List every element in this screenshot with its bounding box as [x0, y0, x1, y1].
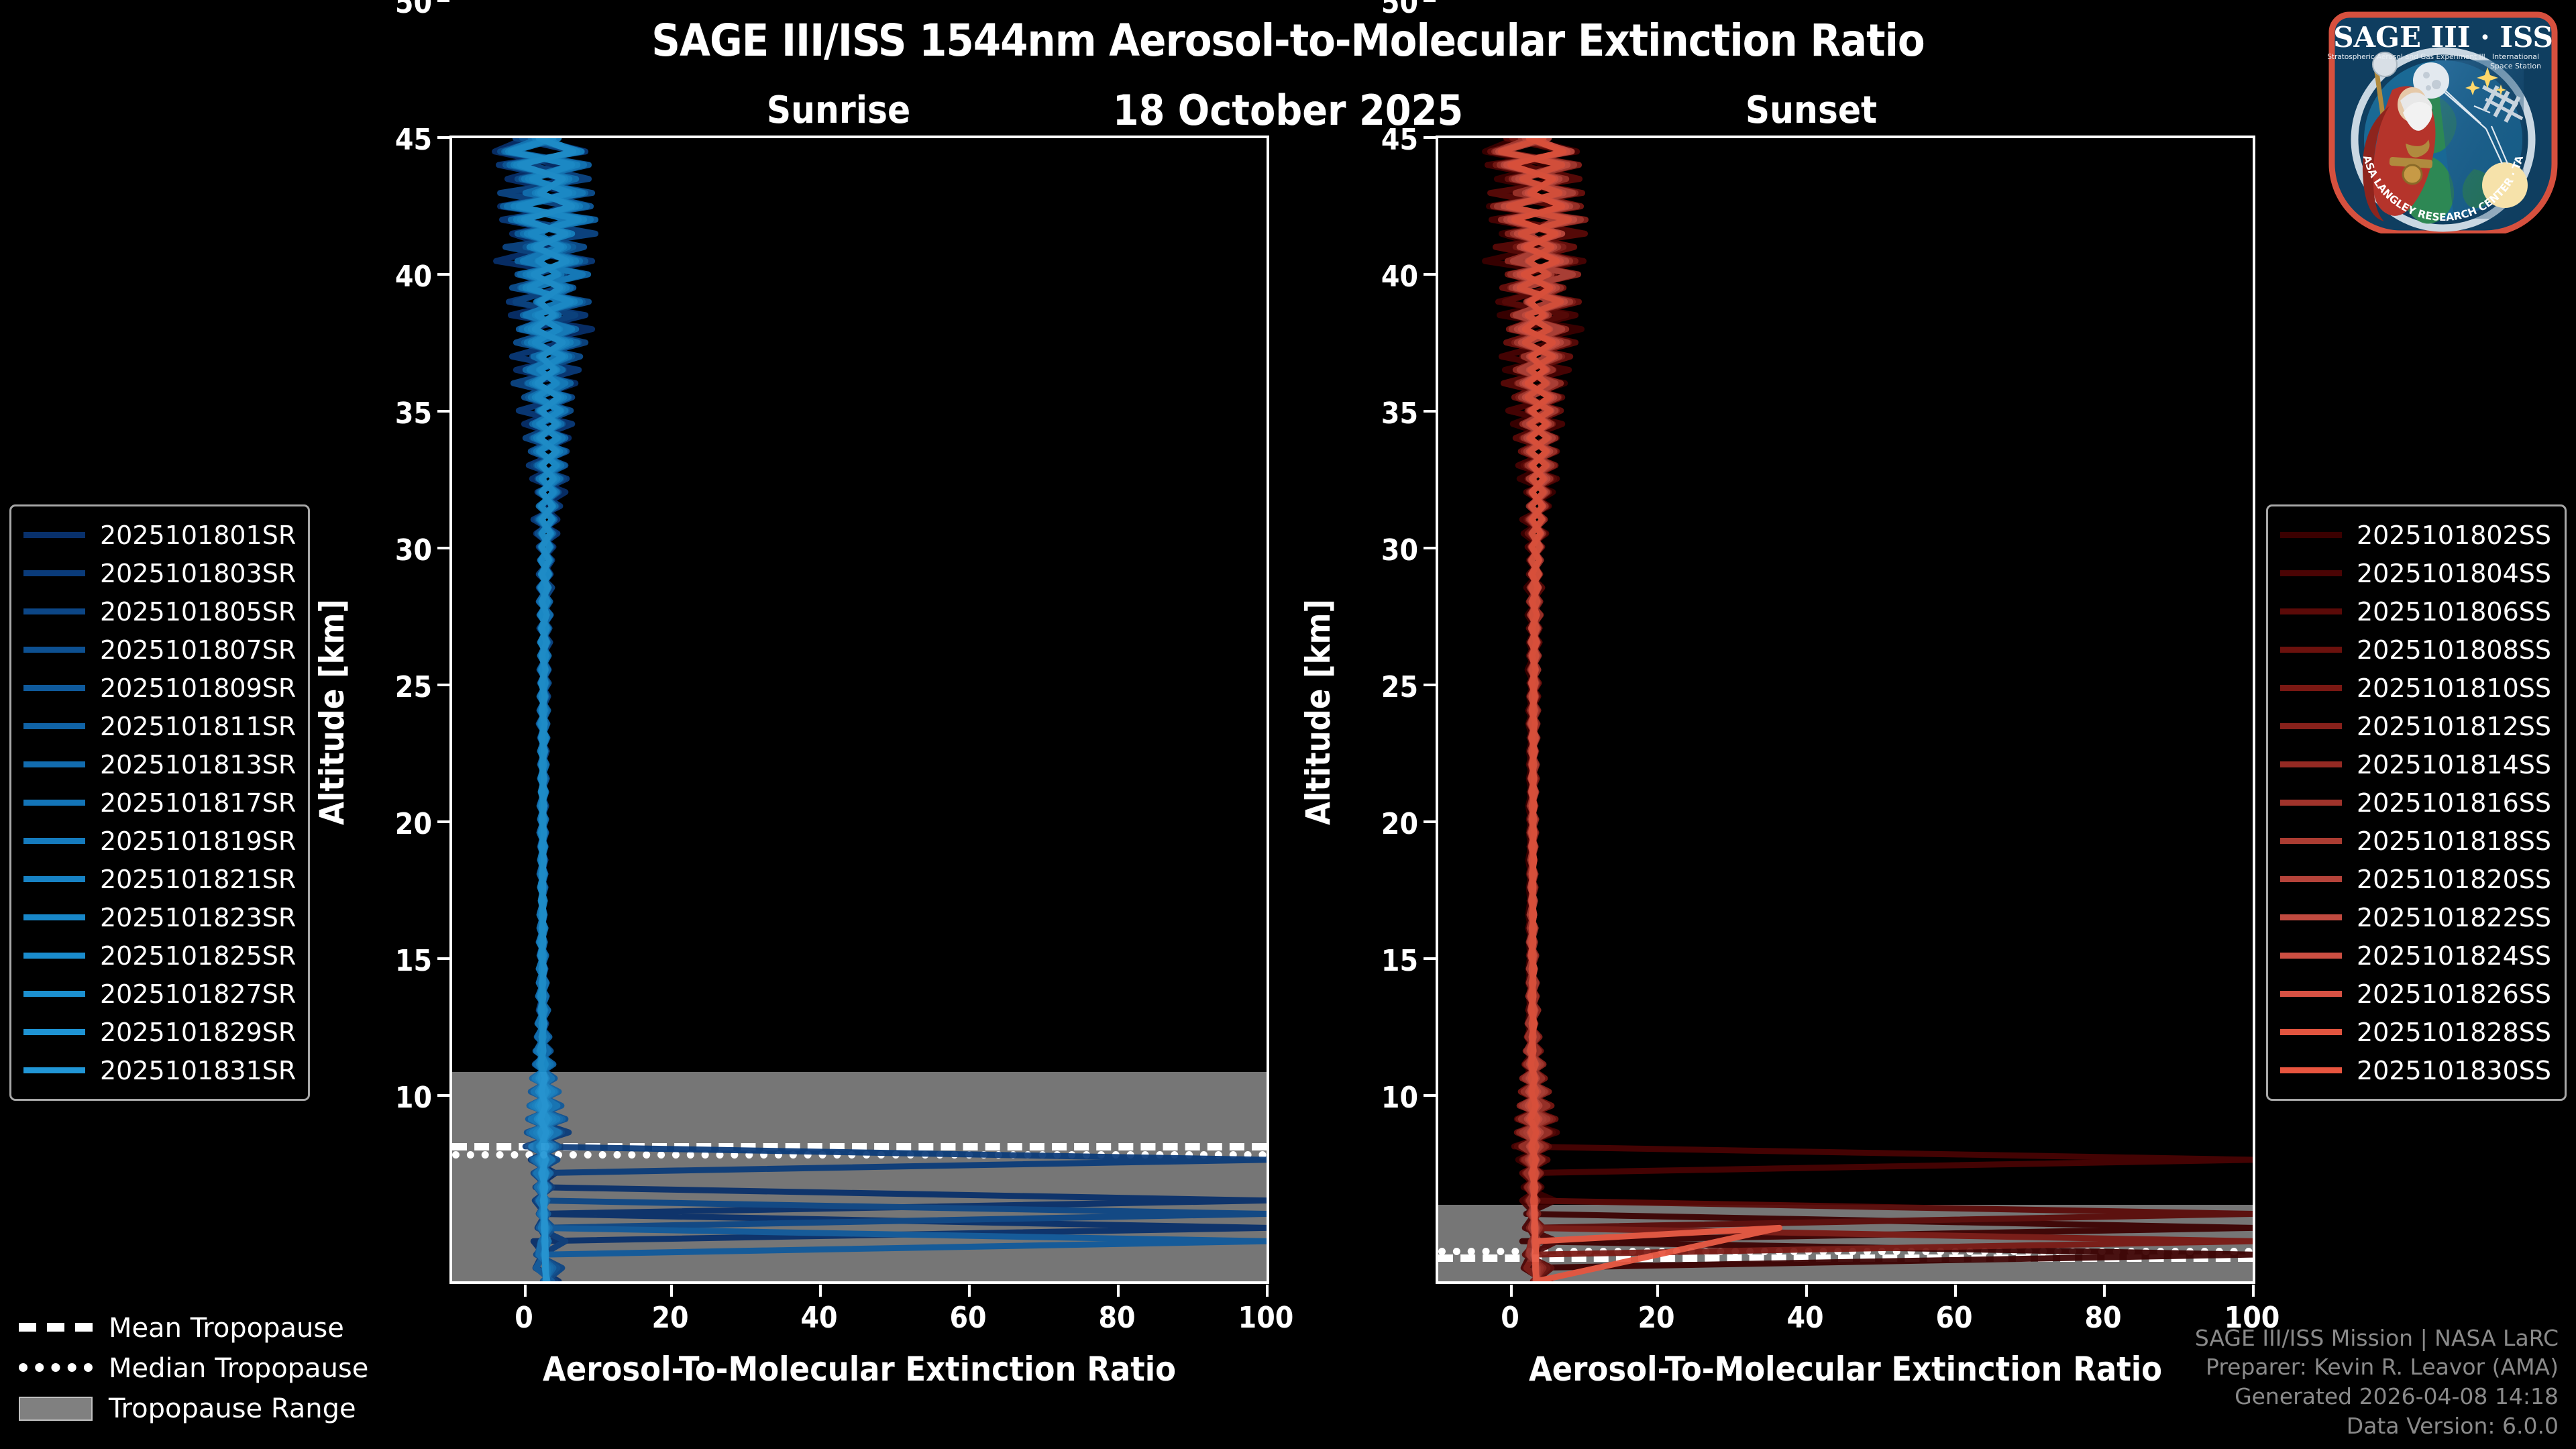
- legend-item-label: 2025101817SR: [100, 788, 296, 818]
- legend-color-swatch: [23, 1029, 85, 1035]
- sunset-xtickmark-100: [2252, 1285, 2255, 1297]
- sunrise-ytickmark-30: [437, 547, 449, 549]
- legend-item[interactable]: 2025101831SR: [23, 1051, 296, 1089]
- sunset-ytick-30: 30: [1344, 533, 1418, 568]
- sunrise-xtick-80: 80: [1070, 1301, 1164, 1335]
- legend-item[interactable]: 2025101816SS: [2280, 784, 2553, 822]
- sunset-ytickmark-25: [1424, 684, 1436, 686]
- legend-item-label: 2025101823SR: [100, 903, 296, 932]
- legend-item-label: 2025101819SR: [100, 826, 296, 856]
- tropopause-key-median: Median Tropopause: [19, 1348, 368, 1389]
- legend-item-label: 2025101809SR: [100, 674, 296, 703]
- legend-color-swatch: [2280, 838, 2342, 844]
- sunset-xtick-20: 20: [1609, 1301, 1703, 1335]
- legend-item[interactable]: 2025101801SR: [23, 516, 296, 554]
- legend-color-swatch: [2280, 953, 2342, 959]
- legend-color-swatch: [23, 570, 85, 576]
- legend-item-label: 2025101808SS: [2357, 635, 2551, 665]
- logo-subtitle-right-line2: Space Station: [2490, 62, 2541, 70]
- sunrise-panel-title: Sunrise: [678, 89, 1000, 132]
- legend-item[interactable]: 2025101802SS: [2280, 516, 2553, 554]
- legend-item[interactable]: 2025101809SR: [23, 669, 296, 707]
- sunrise-series-lines: [452, 138, 1267, 1281]
- legend-item[interactable]: 2025101821SR: [23, 860, 296, 898]
- legend-color-swatch: [23, 685, 85, 691]
- sunset-xtickmark-60: [1954, 1285, 1957, 1297]
- legend-item-label: 2025101803SR: [100, 559, 296, 588]
- legend-color-swatch: [2280, 570, 2342, 576]
- sunrise-ytickmark-15: [437, 957, 449, 960]
- sunrise-ytickmark-50: [437, 0, 449, 2]
- legend-item[interactable]: 2025101817SR: [23, 784, 296, 822]
- sunrise-xtickmark-0: [524, 1285, 527, 1297]
- legend-color-swatch: [23, 1067, 85, 1073]
- sunrise-xtickmark-80: [1117, 1285, 1120, 1297]
- logo-subtitle-right-line1: International: [2492, 52, 2539, 61]
- sunset-ytick-40: 40: [1344, 260, 1418, 294]
- sunset-ytickmark-40: [1424, 273, 1436, 276]
- sunset-x-axis-title: Aerosol-To-Molecular Extinction Ratio: [1436, 1350, 2255, 1389]
- sunrise-ytick-20: 20: [358, 807, 432, 841]
- tropopause-key-range: Tropopause Range: [19, 1389, 368, 1429]
- sunset-xtickmark-40: [1805, 1285, 1808, 1297]
- legend-item[interactable]: 2025101810SS: [2280, 669, 2553, 707]
- page-title: SAGE III/ISS 1544nm Aerosol-to-Molecular…: [0, 15, 2576, 66]
- legend-item-label: 2025101828SS: [2357, 1018, 2551, 1047]
- sunrise-x-axis-title: Aerosol-To-Molecular Extinction Ratio: [449, 1350, 1269, 1389]
- sunset-ytickmark-45: [1424, 136, 1436, 139]
- sunset-ytick-10: 10: [1344, 1081, 1418, 1115]
- sunset-ytickmark-35: [1424, 410, 1436, 413]
- tropopause-legend: Mean Tropopause Median Tropopause Tropop…: [19, 1308, 368, 1429]
- sunset-y-axis-title: Altitude [km]: [1299, 599, 1338, 825]
- legend-color-swatch: [2280, 914, 2342, 920]
- legend-color-swatch: [23, 838, 85, 844]
- legend-item[interactable]: 2025101811SR: [23, 707, 296, 745]
- sunset-ytick-45: 45: [1344, 123, 1418, 157]
- legend-item[interactable]: 2025101803SR: [23, 554, 296, 592]
- legend-item[interactable]: 2025101806SS: [2280, 592, 2553, 631]
- sunrise-plot-area: [449, 136, 1269, 1284]
- sunset-event-legend[interactable]: 2025101802SS 2025101804SS 2025101806SS 2…: [2266, 504, 2567, 1101]
- legend-color-swatch: [23, 914, 85, 920]
- sunrise-xtickmark-100: [1266, 1285, 1269, 1297]
- legend-item[interactable]: 2025101830SS: [2280, 1051, 2553, 1089]
- legend-item[interactable]: 2025101827SR: [23, 975, 296, 1013]
- sunrise-ytick-15: 15: [358, 944, 432, 978]
- legend-item-label: 2025101801SR: [100, 521, 296, 550]
- footer-credits: SAGE III/ISS Mission | NASA LaRC Prepare…: [2195, 1324, 2559, 1442]
- legend-color-swatch: [2280, 1067, 2342, 1073]
- sunset-ytick-25: 25: [1344, 670, 1418, 704]
- sunset-ytickmark-50: [1424, 0, 1436, 2]
- sunset-xtickmark-80: [2103, 1285, 2106, 1297]
- sunrise-xtick-40: 40: [772, 1301, 866, 1335]
- legend-color-swatch: [2280, 647, 2342, 653]
- sunset-xtickmark-20: [1656, 1285, 1659, 1297]
- legend-color-swatch: [23, 991, 85, 997]
- legend-color-swatch: [2280, 876, 2342, 882]
- tropopause-range-swatch-icon: [19, 1397, 93, 1421]
- sunrise-ytick-40: 40: [358, 260, 432, 294]
- legend-color-swatch: [23, 532, 85, 538]
- legend-item-label: 2025101814SS: [2357, 750, 2551, 780]
- sunrise-ytickmark-20: [437, 820, 449, 823]
- legend-item-label: 2025101812SS: [2357, 712, 2551, 741]
- sunset-ytickmark-20: [1424, 820, 1436, 823]
- sunset-xtick-80: 80: [2056, 1301, 2150, 1335]
- legend-item-label: 2025101811SR: [100, 712, 296, 741]
- legend-item-label: 2025101822SS: [2357, 903, 2551, 932]
- legend-color-swatch: [23, 800, 85, 806]
- legend-item-label: 2025101804SS: [2357, 559, 2551, 588]
- sunrise-xtick-0: 0: [477, 1301, 571, 1335]
- legend-item[interactable]: 2025101807SR: [23, 631, 296, 669]
- legend-item-label: 2025101818SS: [2357, 826, 2551, 856]
- sunset-ytick-20: 20: [1344, 807, 1418, 841]
- legend-item[interactable]: 2025101818SS: [2280, 822, 2553, 860]
- mean-tropopause-label: Mean Tropopause: [109, 1313, 344, 1344]
- sunset-ytick-35: 35: [1344, 396, 1418, 431]
- tropopause-key-mean: Mean Tropopause: [19, 1308, 368, 1348]
- legend-color-swatch: [23, 647, 85, 653]
- sunset-panel-title: Sunset: [1650, 89, 1972, 132]
- sunrise-ytickmark-45: [437, 136, 449, 139]
- sunset-ytick-50: 50: [1344, 0, 1418, 20]
- legend-color-swatch: [2280, 723, 2342, 729]
- sunrise-xtickmark-60: [968, 1285, 971, 1297]
- sunrise-xtick-60: 60: [921, 1301, 1015, 1335]
- legend-color-swatch: [23, 761, 85, 767]
- sunset-xtick-60: 60: [1907, 1301, 2001, 1335]
- logo-title: SAGE III · ISS: [2333, 21, 2553, 54]
- legend-color-swatch: [2280, 1029, 2342, 1035]
- sunrise-xtickmark-40: [819, 1285, 822, 1297]
- legend-item[interactable]: 2025101820SS: [2280, 860, 2553, 898]
- sunrise-ytickmark-35: [437, 410, 449, 413]
- legend-item[interactable]: 2025101819SR: [23, 822, 296, 860]
- sunrise-ytick-35: 35: [358, 396, 432, 431]
- median-tropopause-label: Median Tropopause: [109, 1353, 368, 1384]
- median-tropopause-dot-icon: [19, 1363, 93, 1374]
- sunrise-xtick-100: 100: [1219, 1301, 1313, 1335]
- legend-item[interactable]: 2025101812SS: [2280, 707, 2553, 745]
- sunrise-xtickmark-20: [670, 1285, 673, 1297]
- legend-item[interactable]: 2025101825SR: [23, 936, 296, 975]
- sunrise-ytick-25: 25: [358, 670, 432, 704]
- sunrise-ytickmark-10: [437, 1094, 449, 1097]
- sunset-plot-area: [1436, 136, 2255, 1284]
- legend-item-label: 2025101821SR: [100, 865, 296, 894]
- legend-item-label: 2025101827SR: [100, 979, 296, 1009]
- legend-item-label: 2025101826SS: [2357, 979, 2551, 1009]
- legend-item[interactable]: 2025101805SR: [23, 592, 296, 631]
- legend-color-swatch: [23, 953, 85, 959]
- sunrise-ytick-45: 45: [358, 123, 432, 157]
- legend-color-swatch: [2280, 761, 2342, 767]
- legend-item-label: 2025101831SR: [100, 1056, 296, 1085]
- footer-generated-line: Generated 2026-04-08 14:18: [2195, 1382, 2559, 1411]
- legend-item-label: 2025101824SS: [2357, 941, 2551, 971]
- legend-color-swatch: [2280, 800, 2342, 806]
- legend-item[interactable]: 2025101814SS: [2280, 745, 2553, 784]
- legend-item-label: 2025101807SR: [100, 635, 296, 665]
- legend-item[interactable]: 2025101823SR: [23, 898, 296, 936]
- legend-item-label: 2025101813SR: [100, 750, 296, 780]
- sunrise-ytick-10: 10: [358, 1081, 432, 1115]
- sunrise-ytickmark-40: [437, 273, 449, 276]
- legend-item-label: 2025101806SS: [2357, 597, 2551, 627]
- sunset-series-lines: [1438, 138, 2253, 1281]
- legend-item-label: 2025101805SR: [100, 597, 296, 627]
- logo-subtitle-left: Stratospheric Aerosol and Gas Experiment…: [2327, 53, 2485, 61]
- legend-item[interactable]: 2025101826SS: [2280, 975, 2553, 1013]
- sunrise-y-axis-title: Altitude [km]: [313, 599, 352, 825]
- legend-item[interactable]: 2025101808SS: [2280, 631, 2553, 669]
- legend-color-swatch: [2280, 608, 2342, 614]
- legend-item-label: 2025101816SS: [2357, 788, 2551, 818]
- sunset-ytickmark-30: [1424, 547, 1436, 549]
- legend-color-swatch: [2280, 991, 2342, 997]
- sunset-xtick-40: 40: [1758, 1301, 1852, 1335]
- sunset-xtickmark-0: [1510, 1285, 1513, 1297]
- sunset-ytick-15: 15: [1344, 944, 1418, 978]
- legend-item[interactable]: 2025101829SR: [23, 1013, 296, 1051]
- legend-color-swatch: [2280, 532, 2342, 538]
- legend-color-swatch: [23, 876, 85, 882]
- legend-item[interactable]: 2025101828SS: [2280, 1013, 2553, 1051]
- sunrise-ytick-30: 30: [358, 533, 432, 568]
- footer-data-version-line: Data Version: 6.0.0: [2195, 1411, 2559, 1441]
- sunrise-ytick-50: 50: [358, 0, 432, 20]
- sunrise-event-legend[interactable]: 2025101801SR 2025101803SR 2025101805SR 2…: [9, 504, 310, 1101]
- sunset-xtick-0: 0: [1463, 1301, 1557, 1335]
- sunset-ytickmark-15: [1424, 957, 1436, 960]
- footer-mission-line: SAGE III/ISS Mission | NASA LaRC: [2195, 1324, 2559, 1353]
- legend-item-label: 2025101810SS: [2357, 674, 2551, 703]
- footer-preparer-line: Preparer: Kevin R. Leavor (AMA): [2195, 1352, 2559, 1382]
- legend-item[interactable]: 2025101804SS: [2280, 554, 2553, 592]
- tropopause-range-label: Tropopause Range: [109, 1393, 356, 1424]
- mean-tropopause-dash-icon: [19, 1323, 93, 1334]
- legend-item-label: 2025101820SS: [2357, 865, 2551, 894]
- legend-color-swatch: [2280, 685, 2342, 691]
- sage-iii-iss-mission-patch-logo: SAGE III · ISS Stratospheric Aerosol and…: [2322, 5, 2564, 233]
- legend-item-label: 2025101825SR: [100, 941, 296, 971]
- sunset-ytickmark-10: [1424, 1094, 1436, 1097]
- legend-color-swatch: [23, 723, 85, 729]
- legend-color-swatch: [23, 608, 85, 614]
- sunrise-xtick-20: 20: [623, 1301, 717, 1335]
- legend-item[interactable]: 2025101824SS: [2280, 936, 2553, 975]
- legend-item-label: 2025101829SR: [100, 1018, 296, 1047]
- legend-item-label: 2025101802SS: [2357, 521, 2551, 550]
- legend-item[interactable]: 2025101822SS: [2280, 898, 2553, 936]
- sunrise-ytickmark-25: [437, 684, 449, 686]
- legend-item[interactable]: 2025101813SR: [23, 745, 296, 784]
- legend-item-label: 2025101830SS: [2357, 1056, 2551, 1085]
